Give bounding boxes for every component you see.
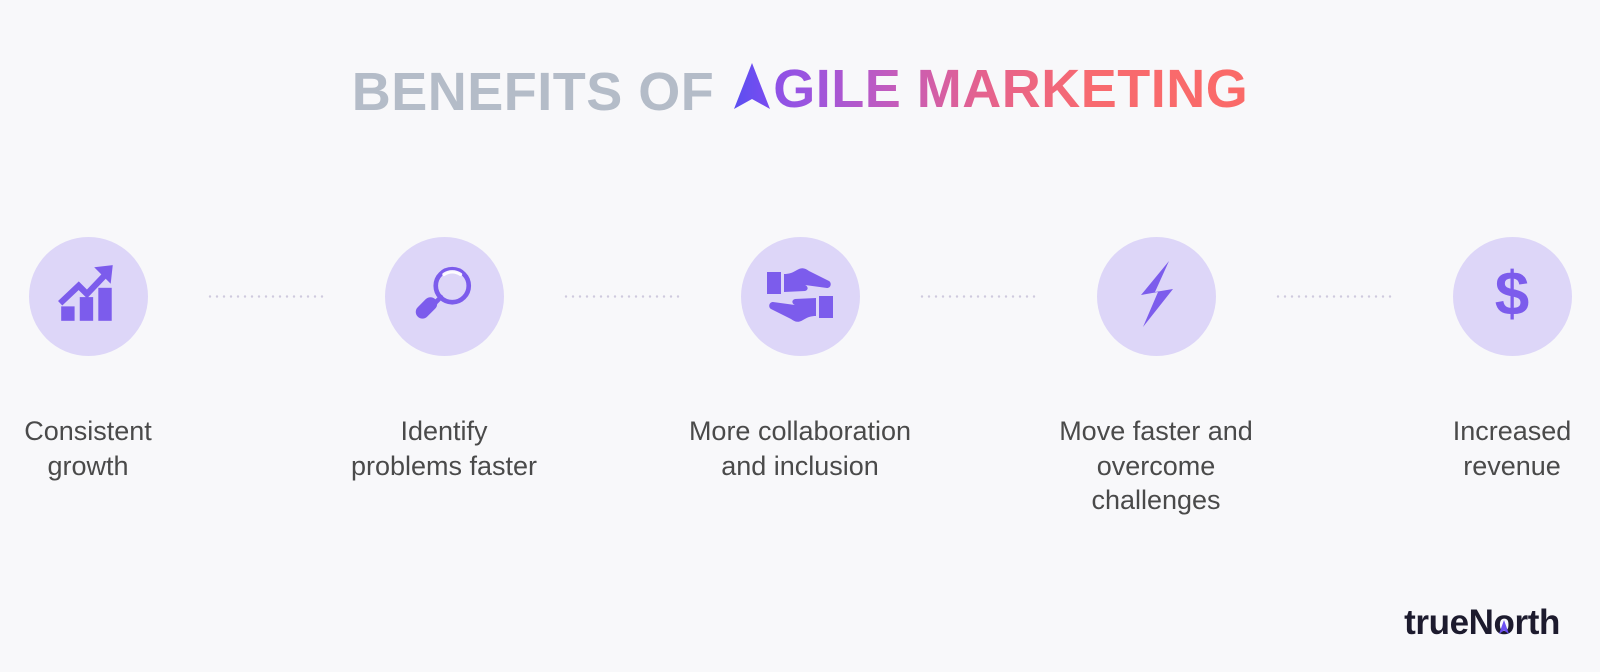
benefit-label: Identify problems faster [351, 414, 537, 483]
connector-line-3 [918, 237, 1038, 356]
benefit-item-move-faster[interactable]: Move faster and overcome challenges [1038, 237, 1274, 518]
title-plain-text: BENEFITS OF [352, 65, 715, 119]
benefits-row: Consistent growth Identify problems fast… [0, 237, 1600, 518]
benefit-icon-circle [741, 237, 860, 356]
connector-line-1 [206, 237, 326, 356]
benefit-label: Increased revenue [1453, 414, 1572, 483]
brand-logo[interactable]: trueNorth [1404, 605, 1560, 640]
benefit-item-increased-revenue[interactable]: $ Increased revenue [1394, 237, 1600, 483]
benefit-item-identify-problems-faster[interactable]: Identify problems faster [326, 237, 562, 483]
connector-line-2 [562, 237, 682, 356]
dollar-sign-icon: $ [1479, 259, 1545, 334]
brand-text-before: trueN [1404, 603, 1493, 642]
brand-text-after: rth [1515, 603, 1560, 642]
benefit-label: More collaboration and inclusion [689, 414, 911, 483]
connector-line-4 [1274, 237, 1394, 356]
helping-hands-icon [765, 261, 835, 332]
growth-chart-icon [55, 261, 121, 332]
benefit-icon-circle [29, 237, 148, 356]
brand-mark-o: o [1494, 605, 1515, 640]
lightning-bolt-icon [1123, 259, 1189, 334]
title-accent-text: GILE MARKETING [732, 62, 1248, 122]
benefit-item-more-collaboration[interactable]: More collaboration and inclusion [682, 237, 918, 483]
benefit-icon-circle: $ [1453, 237, 1572, 356]
benefit-label: Move faster and overcome challenges [1038, 414, 1274, 518]
benefit-icon-circle [1097, 237, 1216, 356]
benefit-item-consistent-growth[interactable]: Consistent growth [0, 237, 206, 483]
benefit-icon-circle [385, 237, 504, 356]
magnifying-glass-icon [411, 261, 477, 332]
title-accent-rest: GILE MARKETING [773, 59, 1248, 119]
agile-arrow-logo-icon [732, 61, 772, 120]
benefit-label: Consistent growth [24, 414, 152, 483]
svg-text:$: $ [1495, 260, 1529, 329]
compass-needle-icon [1499, 606, 1510, 641]
page-title: BENEFITS OFGILE MARKETING [0, 62, 1600, 122]
